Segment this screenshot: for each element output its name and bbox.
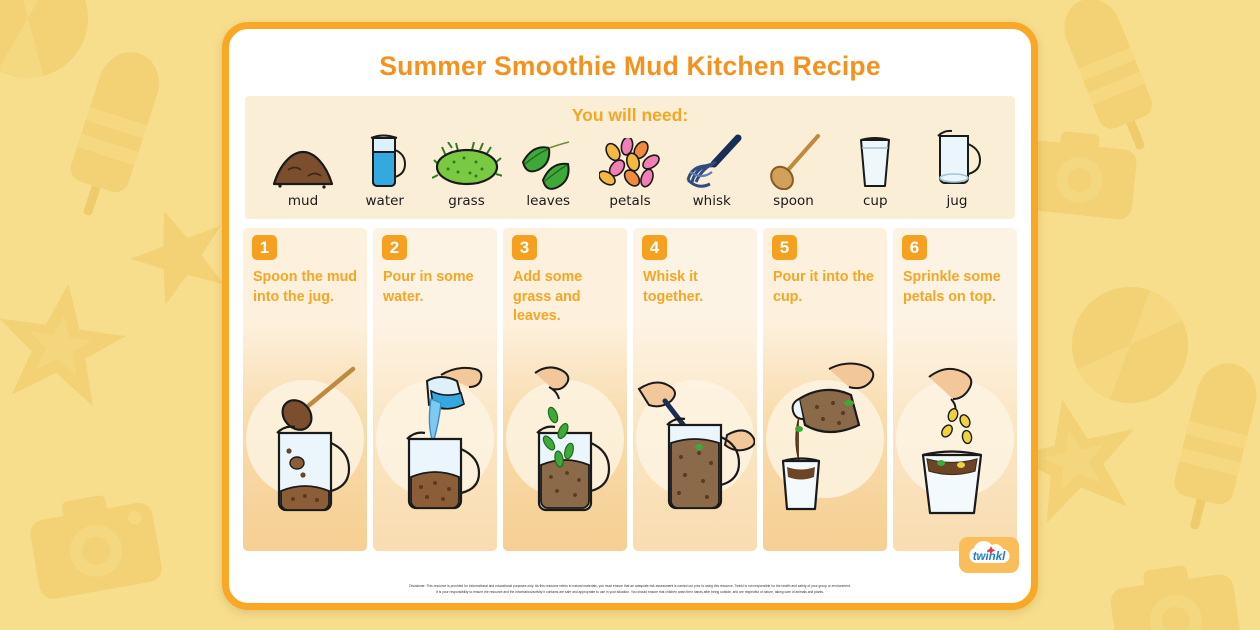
- ingredient-label: jug: [947, 193, 968, 209]
- ingredients-row: mud water: [249, 130, 1011, 209]
- water-jug-icon: [361, 130, 409, 190]
- step-card-2: 2 Pour in some water.: [373, 228, 497, 551]
- step-card-6: 6 Sprinkle some petals on top.: [893, 228, 1017, 551]
- ingredient-petals: petals: [590, 130, 670, 209]
- whisk-mixture-illustration: [633, 354, 757, 534]
- step-number-badge: 3: [512, 235, 537, 260]
- step-card-3: 3 Add some grass and leaves.: [503, 228, 627, 551]
- ingredient-leaves: leaves: [508, 130, 588, 209]
- ingredient-label: petals: [609, 193, 650, 209]
- mud-pile-icon: [268, 130, 338, 190]
- step-card-5: 5 Pour it into the cup.: [763, 228, 887, 551]
- pour-water-into-jug-illustration: [373, 354, 497, 534]
- disclaimer: Disclaimer: This resource is provided fo…: [229, 584, 1031, 596]
- ingredient-label: water: [366, 193, 404, 209]
- step-instruction: Whisk it together.: [643, 268, 751, 307]
- page-title: Summer Smoothie Mud Kitchen Recipe: [229, 51, 1031, 82]
- disclaimer-line-2: It is your responsibility to ensure the …: [253, 590, 1007, 596]
- petals-icon: [599, 130, 661, 190]
- leaves-icon: [515, 130, 581, 190]
- ingredient-label: leaves: [526, 193, 570, 209]
- step-instruction: Pour it into the cup.: [773, 268, 881, 307]
- step-number-badge: 2: [382, 235, 407, 260]
- ingredient-cup: cup: [835, 130, 915, 209]
- step-number-badge: 4: [642, 235, 667, 260]
- you-will-need-heading: You will need:: [249, 105, 1011, 126]
- twinkl-cloud-icon: twinkl: [963, 541, 1015, 569]
- ingredient-mud: mud: [263, 130, 343, 209]
- step-instruction: Add some grass and leaves.: [513, 268, 621, 327]
- you-will-need-panel: You will need: mud: [245, 96, 1015, 219]
- step-number-badge: 6: [902, 235, 927, 260]
- ingredient-grass: grass: [427, 130, 507, 209]
- ingredient-spoon: spoon: [754, 130, 834, 209]
- step-instruction: Sprinkle some petals on top.: [903, 268, 1011, 307]
- recipe-poster: Summer Smoothie Mud Kitchen Recipe You w…: [222, 22, 1038, 610]
- ingredient-jug: jug: [917, 130, 997, 209]
- twinkl-wordmark: twinkl: [973, 551, 1006, 563]
- step-card-1: 1 Spoon the mud into the jug.: [243, 228, 367, 551]
- wooden-spoon-icon: [764, 130, 824, 190]
- add-grass-and-leaves-illustration: [503, 354, 627, 534]
- whisk-icon: [680, 130, 744, 190]
- steps-row: 1 Spoon the mud into the jug.: [243, 228, 1017, 551]
- ingredient-label: whisk: [693, 193, 731, 209]
- grass-clump-icon: [432, 130, 502, 190]
- jug-icon: [930, 130, 984, 190]
- pour-into-cup-illustration: [763, 354, 887, 534]
- step-number-badge: 1: [252, 235, 277, 260]
- ingredient-label: mud: [288, 193, 318, 209]
- ingredient-label: spoon: [773, 193, 814, 209]
- ingredient-label: grass: [448, 193, 484, 209]
- step-instruction: Pour in some water.: [383, 268, 491, 307]
- ingredient-label: cup: [863, 193, 888, 209]
- cup-icon: [853, 130, 897, 190]
- spoon-mud-into-jug-illustration: [243, 354, 367, 534]
- twinkl-logo[interactable]: twinkl: [959, 537, 1019, 573]
- step-card-4: 4 Whisk it together.: [633, 228, 757, 551]
- ingredient-water: water: [345, 130, 425, 209]
- sprinkle-petals-illustration: [893, 354, 1017, 534]
- step-number-badge: 5: [772, 235, 797, 260]
- ingredient-whisk: whisk: [672, 130, 752, 209]
- step-instruction: Spoon the mud into the jug.: [253, 268, 361, 307]
